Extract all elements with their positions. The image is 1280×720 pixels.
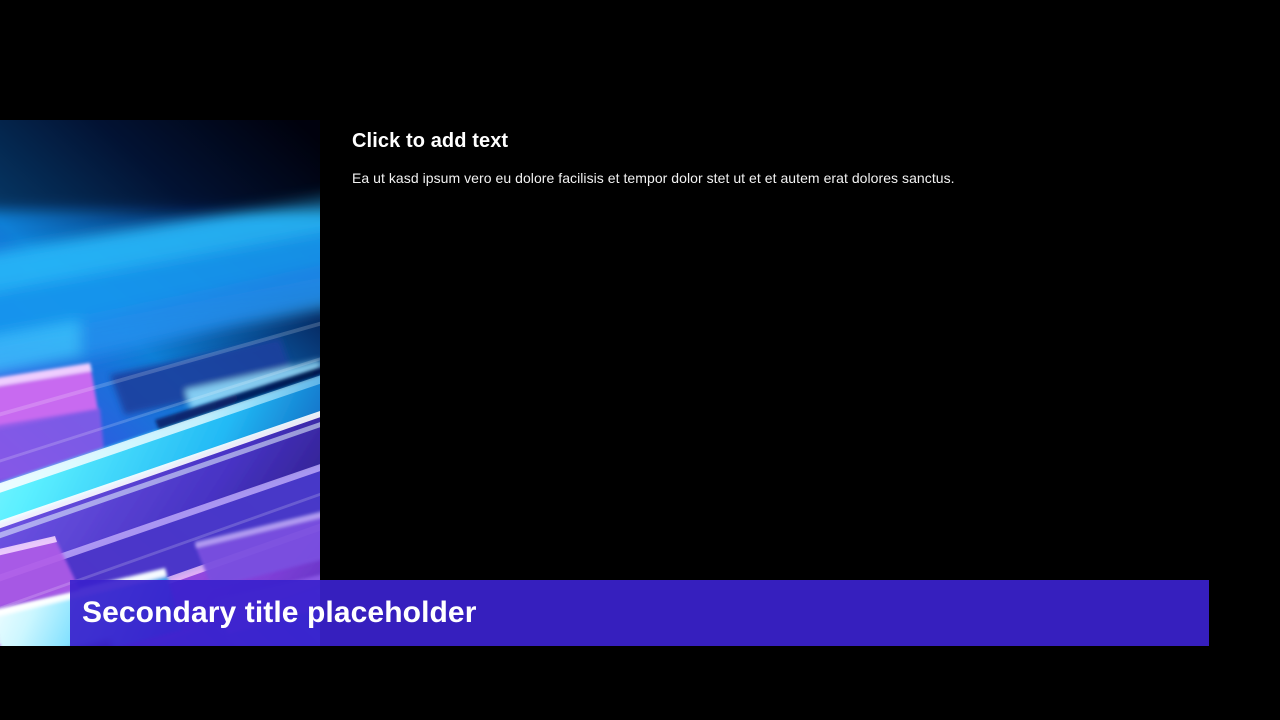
content-paragraph[interactable]: Ea ut kasd ipsum vero eu dolore facilisi… [352,154,1252,188]
abstract-3d-ribbons-image [0,120,320,646]
picture-placeholder[interactable] [0,120,320,646]
secondary-title-text[interactable]: Secondary title placeholder [82,596,477,630]
content-text-placeholder[interactable]: Click to add text Ea ut kasd ipsum vero … [352,128,1252,188]
secondary-title-bar[interactable]: Secondary title placeholder [70,580,1209,646]
slide-canvas: Click to add text Ea ut kasd ipsum vero … [0,0,1280,720]
content-heading[interactable]: Click to add text [352,128,1252,154]
